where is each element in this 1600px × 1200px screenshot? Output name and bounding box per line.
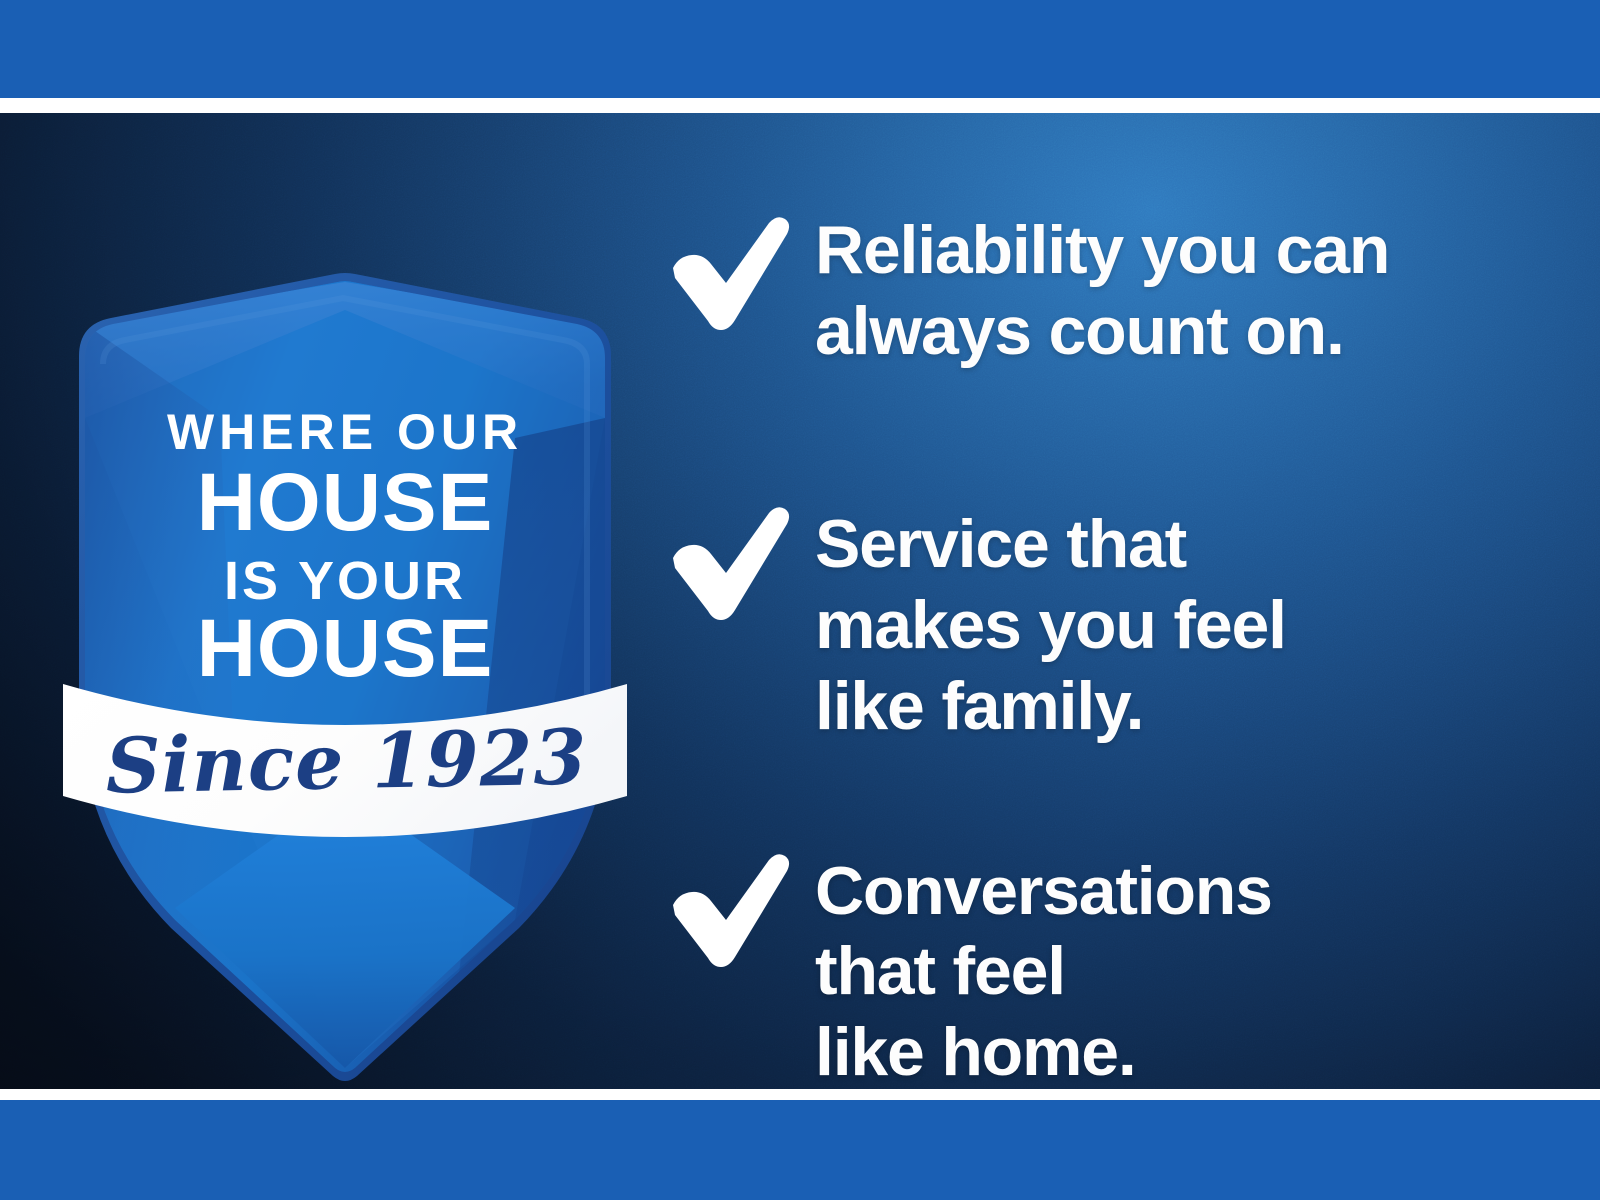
list-item: Reliability you can always count on. [665, 208, 1545, 372]
check-icon [665, 845, 815, 971]
shield-line-3: IS YOUR [224, 551, 466, 611]
list-item: Service that makes you feel like family. [665, 498, 1545, 747]
shield-emblem: WHERE OUR HOUSE IS YOUR HOUSE Since 1923 [45, 268, 645, 1078]
list-item-label: Service that makes you feel like family. [815, 498, 1545, 747]
check-icon [665, 208, 815, 334]
top-white-rule [0, 98, 1600, 113]
banner-text: Since 1923 [105, 712, 588, 810]
list-item-label: Reliability you can always count on. [815, 208, 1545, 372]
shield-line-1: WHERE OUR [167, 404, 523, 460]
list-item: Conversations that feel like home. [665, 845, 1545, 1089]
bottom-brand-bar [0, 1100, 1600, 1200]
bottom-white-rule [0, 1089, 1600, 1100]
main-stage: WHERE OUR HOUSE IS YOUR HOUSE Since 1923 [0, 113, 1600, 1089]
benefits-list: Reliability you can always count on. Ser… [665, 208, 1545, 1089]
promo-graphic: WHERE OUR HOUSE IS YOUR HOUSE Since 1923 [0, 0, 1600, 1200]
shield-line-2: HOUSE [197, 457, 494, 548]
shield-line-4: HOUSE [197, 603, 494, 694]
list-item-label: Conversations that feel like home. [815, 845, 1545, 1089]
top-brand-bar [0, 0, 1600, 98]
check-icon [665, 498, 815, 624]
